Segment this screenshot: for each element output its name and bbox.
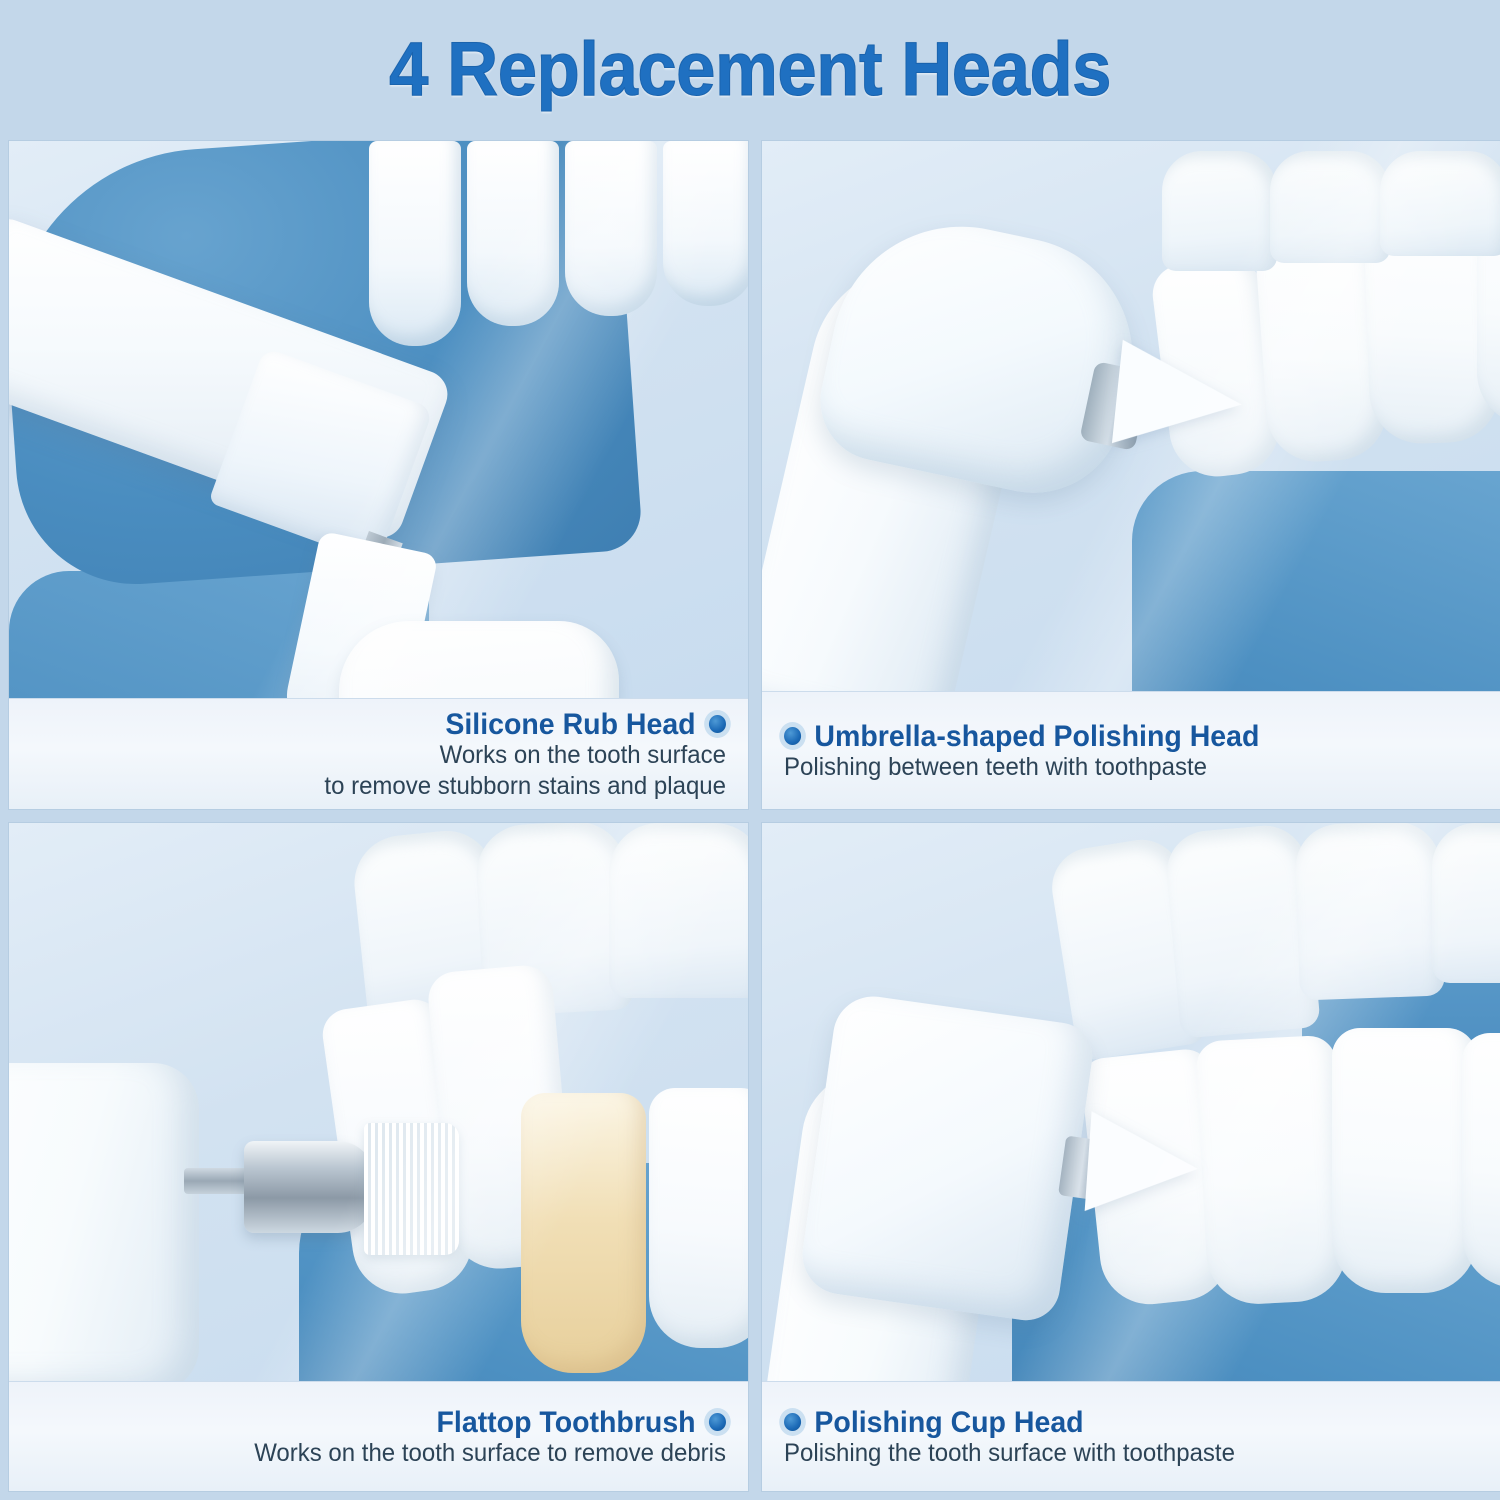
panel-silicone-rub-head[interactable]: Silicone Rub Head Works on the tooth sur…	[8, 140, 749, 810]
caption-silicone-rub-head: Silicone Rub Head Works on the tooth sur…	[9, 698, 748, 810]
handpiece-head	[797, 991, 1096, 1324]
upper-teeth-row	[369, 141, 748, 371]
polishing-cup-tip	[1085, 1111, 1202, 1218]
panel-polishing-cup-head[interactable]: Polishing Cup Head Polishing the tooth s…	[761, 822, 1500, 1492]
caption-umbrella-shaped-polishing-head: Umbrella-shaped Polishing Head Polishing…	[762, 691, 1500, 809]
illustration-flattop-toothbrush	[9, 823, 748, 1381]
caption-description-line-1: Polishing the tooth surface with toothpa…	[784, 1438, 1451, 1469]
panel-flattop-toothbrush[interactable]: Flattop Toothbrush Works on the tooth su…	[8, 822, 749, 1492]
handpiece-handle	[9, 1063, 199, 1381]
caption-flattop-toothbrush: Flattop Toothbrush Works on the tooth su…	[9, 1381, 748, 1491]
caption-heading: Silicone Rub Head	[445, 709, 695, 741]
umbrella-polishing-tip	[1112, 340, 1247, 456]
caption-description-line-1: Works on the tooth surface to remove deb…	[59, 1438, 726, 1469]
caption-heading-row: Umbrella-shaped Polishing Head	[784, 721, 1444, 753]
bullet-icon	[709, 1413, 726, 1431]
caption-heading: Polishing Cup Head	[814, 1407, 1083, 1439]
replacement-heads-grid: Silicone Rub Head Works on the tooth sur…	[8, 140, 1492, 1492]
metal-brush-collar	[244, 1141, 374, 1233]
bullet-icon	[709, 715, 726, 733]
flattop-bristles	[364, 1123, 459, 1255]
illustration-silicone-rub-head	[9, 141, 748, 698]
gum-tissue	[1132, 471, 1500, 691]
panel-umbrella-shaped-polishing-head[interactable]: Umbrella-shaped Polishing Head Polishing…	[761, 140, 1500, 810]
caption-heading-row: Flattop Toothbrush	[66, 1407, 726, 1439]
bullet-icon	[784, 727, 801, 745]
caption-heading-row: Polishing Cup Head	[784, 1407, 1444, 1439]
caption-heading-row: Silicone Rub Head	[66, 709, 726, 741]
caption-heading: Flattop Toothbrush	[437, 1407, 696, 1439]
bullet-icon	[784, 1413, 801, 1431]
stained-tooth	[521, 1093, 646, 1373]
caption-description-line-2: to remove stubborn stains and plaque	[59, 771, 726, 802]
illustration-umbrella-shaped-polishing-head	[762, 141, 1500, 691]
caption-description-line-1: Works on the tooth surface	[59, 740, 726, 771]
caption-heading: Umbrella-shaped Polishing Head	[814, 721, 1259, 753]
caption-description-line-1: Polishing between teeth with toothpaste	[784, 752, 1451, 783]
caption-polishing-cup-head: Polishing Cup Head Polishing the tooth s…	[762, 1381, 1500, 1491]
page-header: 4 Replacement Heads	[0, 0, 1500, 138]
illustration-polishing-cup-head	[762, 823, 1500, 1381]
page-title: 4 Replacement Heads	[389, 26, 1111, 113]
molar-tooth-upper	[339, 621, 619, 698]
